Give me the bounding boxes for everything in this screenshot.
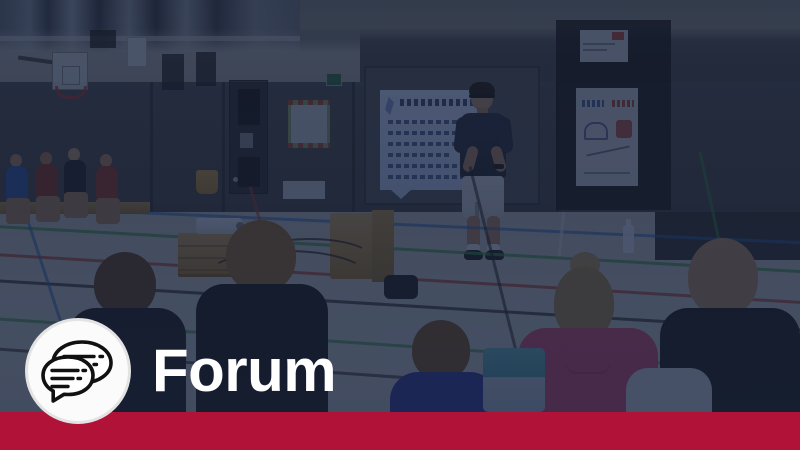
speech-bubbles-icon	[41, 339, 115, 403]
accent-bar	[0, 412, 800, 450]
page-title: Forum	[152, 341, 336, 401]
forum-logo-badge[interactable]	[25, 318, 131, 424]
forum-banner: Forum	[0, 0, 800, 450]
